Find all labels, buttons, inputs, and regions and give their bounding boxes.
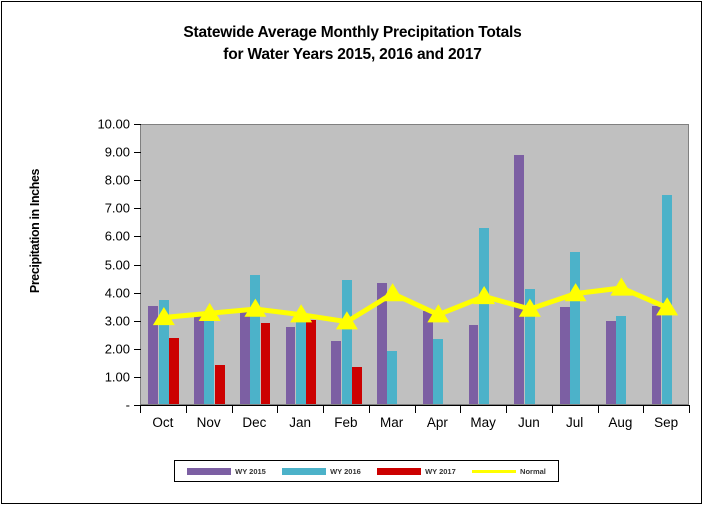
chart-frame: Statewide Average Monthly Precipitation … [1,1,702,504]
y-axis-title: Precipitation in Inches [28,126,42,336]
x-axis-tick [369,406,370,413]
legend-swatch-icon [377,468,421,475]
x-axis-tick [186,406,187,413]
chart-title: Statewide Average Monthly Precipitation … [2,22,703,66]
legend-label: WY 2016 [330,467,361,476]
y-axis-tick-label: 5.00 [42,257,130,272]
x-axis-tick [506,406,507,413]
normal-line-series [141,125,690,406]
y-axis-tick-label: - [42,398,130,413]
y-axis-tick-label: 9.00 [42,145,130,160]
legend-item-wy-2015[interactable]: WY 2015 [187,467,266,476]
legend-swatch-icon [282,468,326,475]
x-axis-tick [552,406,553,413]
y-axis-tick-label: 7.00 [42,201,130,216]
legend-label: WY 2017 [425,467,456,476]
y-axis-tick-label: 3.00 [42,313,130,328]
y-axis-tick-label: 10.00 [42,117,130,132]
x-axis-tick [140,406,141,413]
legend-item-wy-2016[interactable]: WY 2016 [282,467,361,476]
normal-marker-may [473,286,495,304]
normal-line-path [164,288,667,322]
x-axis-tick [277,406,278,413]
y-axis-tick [134,377,141,378]
y-axis-tick [134,208,141,209]
chart-legend: WY 2015WY 2016WY 2017Normal [174,460,559,482]
legend-label: Normal [520,467,546,476]
normal-marker-mar [382,283,404,301]
chart-title-line-1: Statewide Average Monthly Precipitation … [183,24,521,41]
x-axis-tick [689,406,690,413]
legend-swatch-icon [472,470,516,473]
y-axis-tick [134,265,141,266]
y-axis-tick [134,321,141,322]
x-axis-tick [323,406,324,413]
y-axis-tick-label: 2.00 [42,341,130,356]
y-axis-tick-label: 8.00 [42,173,130,188]
x-axis-tick [415,406,416,413]
y-axis-tick-label: 1.00 [42,369,130,384]
y-axis-tick [134,180,141,181]
y-axis-tick [134,124,141,125]
y-axis-tick [134,236,141,237]
chart-title-line-2: for Water Years 2015, 2016 and 2017 [2,44,703,66]
legend-swatch-icon [187,468,231,475]
x-axis-tick [598,406,599,413]
y-axis-tick-label: 6.00 [42,229,130,244]
y-axis-tick [134,152,141,153]
x-axis-tick [643,406,644,413]
y-axis-tick [134,293,141,294]
plot-area [140,124,689,405]
x-axis-tick [232,406,233,413]
legend-item-normal[interactable]: Normal [472,467,546,476]
x-axis-tick-label: Sep [636,415,696,430]
legend-label: WY 2015 [235,467,266,476]
legend-item-wy-2017[interactable]: WY 2017 [377,467,456,476]
y-axis-tick [134,349,141,350]
y-axis-tick-label: 4.00 [42,285,130,300]
x-axis-tick [460,406,461,413]
